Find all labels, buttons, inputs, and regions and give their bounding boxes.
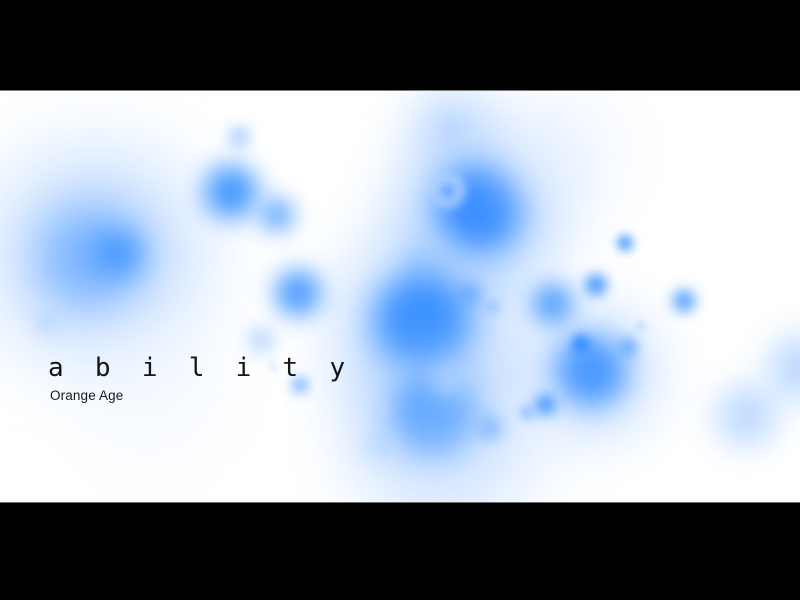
bokeh-circle	[440, 183, 456, 199]
bokeh-circle	[557, 337, 625, 405]
title-block: a b i l i t y Orange Age	[48, 353, 353, 404]
bokeh-circle	[204, 165, 258, 219]
bokeh-circle	[378, 405, 388, 415]
bokeh-circle	[405, 135, 553, 283]
bokeh-circle	[275, 270, 321, 316]
bokeh-circle	[432, 369, 460, 397]
bokeh-circle	[228, 126, 250, 148]
bokeh-circle	[487, 301, 499, 313]
bokeh-circle	[360, 343, 508, 491]
bokeh-circle	[405, 242, 443, 280]
bokeh-circle	[346, 245, 502, 401]
bokeh-circle	[369, 377, 541, 502]
bokeh-circle	[771, 338, 800, 398]
bokeh-circle	[572, 335, 590, 353]
bokeh-circle	[248, 327, 274, 353]
bokeh-circle	[440, 113, 464, 137]
bokeh-circle	[637, 322, 645, 330]
bokeh-circle	[376, 275, 468, 367]
bokeh-circle	[585, 274, 607, 296]
letterbox-bar-top	[0, 0, 800, 91]
bokeh-circle	[533, 284, 573, 324]
bokeh-circle	[617, 235, 633, 251]
bokeh-circle	[37, 313, 57, 333]
bokeh-circle	[431, 174, 465, 208]
letterbox-bar-bottom	[0, 502, 800, 600]
bokeh-circle	[408, 91, 496, 169]
bokeh-circle	[44, 210, 140, 306]
bokeh-circle	[534, 394, 556, 416]
bokeh-circle	[673, 290, 695, 312]
bokeh-circle	[394, 375, 474, 455]
bokeh-circle	[716, 386, 776, 446]
bokeh-circle	[260, 198, 294, 232]
title-card-stage: a b i l i t y Orange Age	[0, 0, 800, 600]
widescreen-panel: a b i l i t y Orange Age	[0, 91, 800, 502]
bokeh-circle	[96, 232, 140, 276]
bokeh-circle	[477, 416, 501, 440]
bokeh-circle	[0, 160, 191, 352]
bokeh-circle	[520, 406, 534, 420]
bokeh-circle	[619, 338, 637, 356]
bokeh-circle	[439, 167, 521, 249]
bokeh-circle	[368, 431, 394, 457]
bokeh-background	[0, 91, 800, 502]
bokeh-circle	[495, 91, 615, 211]
page-title: a b i l i t y	[48, 353, 353, 383]
subtitle: Orange Age	[50, 388, 353, 404]
bokeh-circle	[534, 314, 650, 430]
bokeh-circle	[459, 283, 481, 305]
